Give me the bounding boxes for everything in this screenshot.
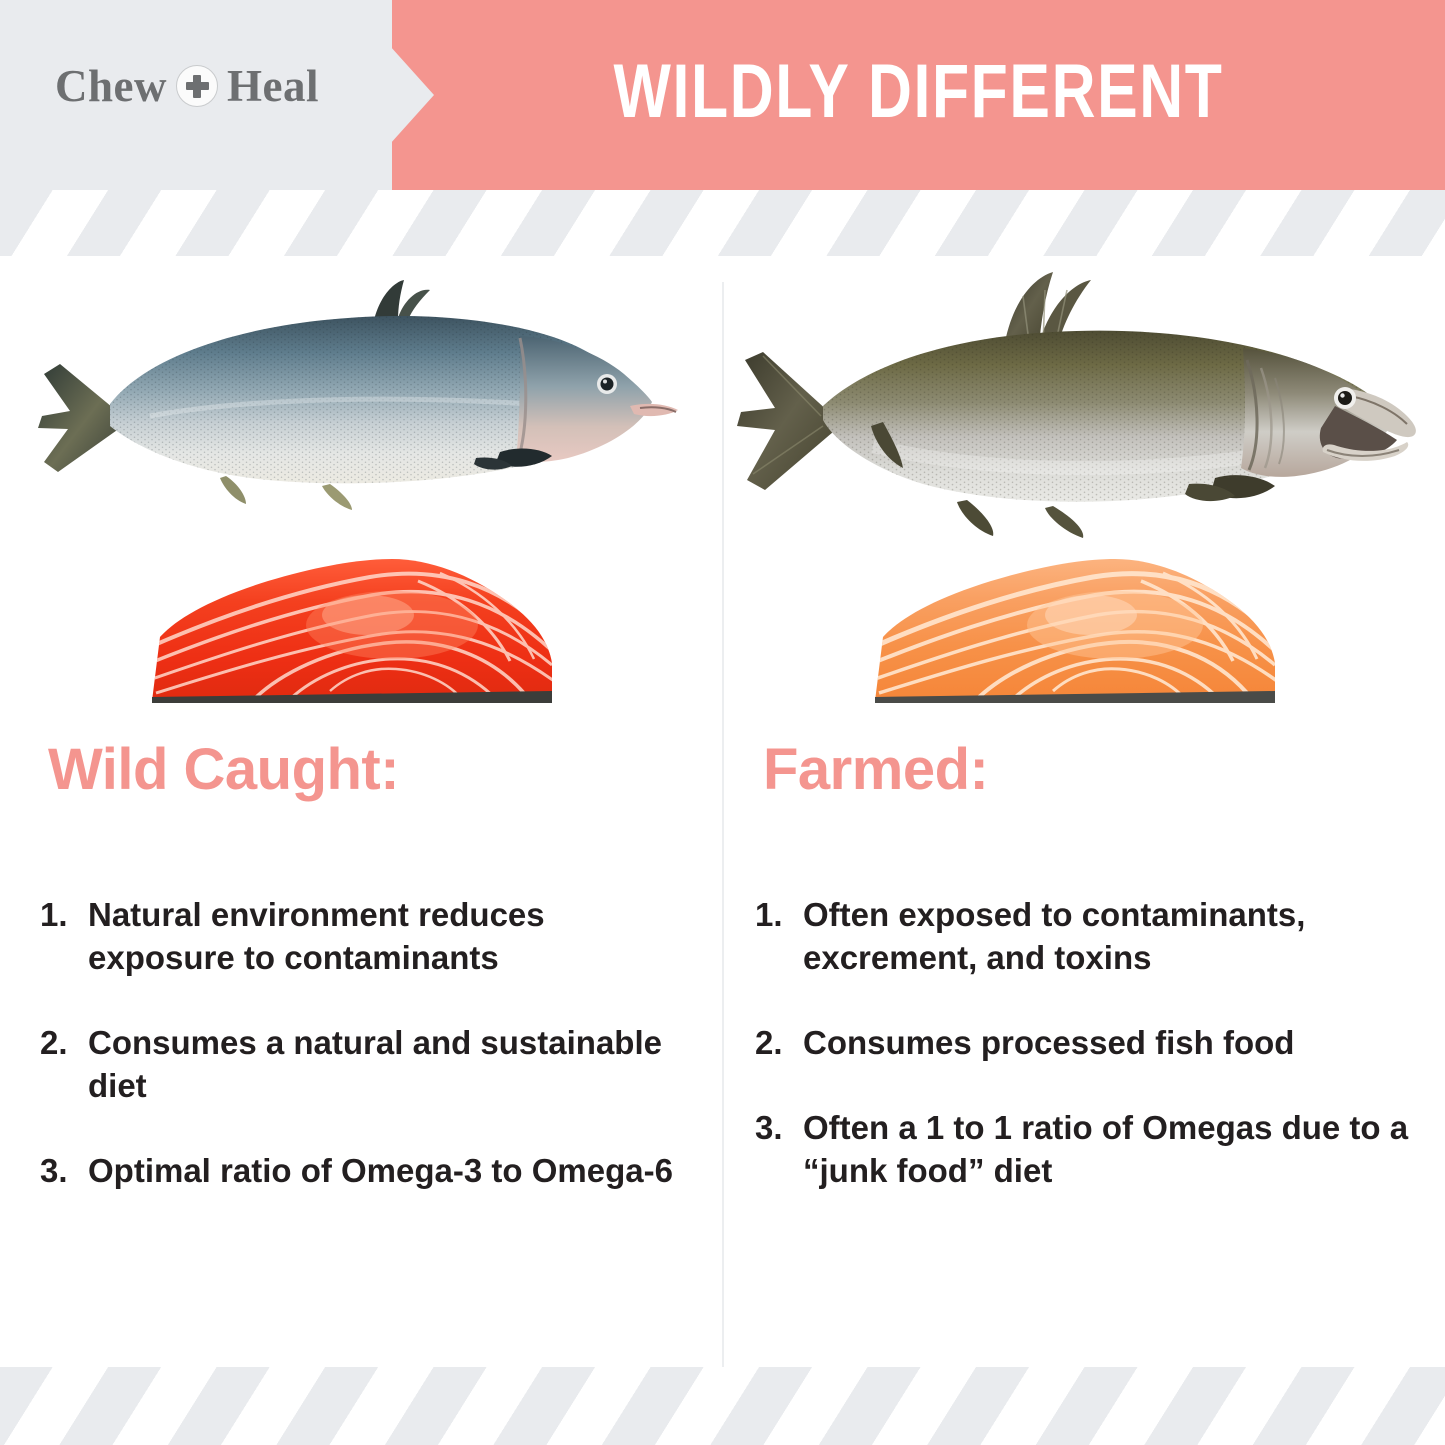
list-item-text: Consumes processed fish food: [803, 1022, 1435, 1065]
farmed-salmon-fillet-photo: [723, 541, 1445, 731]
list-item-text: Often a 1 to 1 ratio of Omegas due to a …: [803, 1107, 1435, 1193]
list-item-number: 3.: [755, 1107, 803, 1193]
brand-word-heal: Heal: [227, 60, 319, 112]
list-item-text: Natural environment reduces exposure to …: [88, 894, 700, 980]
wild-salmon-fillet-photo: [0, 541, 722, 731]
page-header: WILDLY DIFFERENT Chew Heal: [0, 0, 1445, 190]
brand-word-chew: Chew: [55, 60, 167, 112]
list-item: 2. Consumes processed fish food: [755, 1022, 1435, 1065]
list-item-number: 1.: [40, 894, 88, 980]
list-item: 1. Often exposed to contaminants, excrem…: [755, 894, 1435, 980]
list-item-text: Optimal ratio of Omega-3 to Omega-6: [88, 1150, 700, 1193]
column-heading-farmed: Farmed:: [763, 736, 988, 803]
brand-logo: Chew Heal: [55, 60, 319, 112]
column-heading-wild-caught: Wild Caught:: [48, 736, 399, 803]
decorative-stripes-top: [0, 190, 1445, 256]
chevron-right-icon: [390, 46, 434, 144]
column-wild-caught: Wild Caught: 1. Natural environment redu…: [0, 256, 722, 1366]
column-farmed: Farmed: 1. Often exposed to contaminants…: [723, 256, 1445, 1366]
list-item-text: Often exposed to contaminants, excrement…: [803, 894, 1435, 980]
benefit-list-wild-caught: 1. Natural environment reduces exposure …: [40, 894, 700, 1234]
wild-salmon-photo: [0, 256, 722, 546]
list-item: 1. Natural environment reduces exposure …: [40, 894, 700, 980]
decorative-stripes-bottom: [0, 1367, 1445, 1445]
list-item: 3. Optimal ratio of Omega-3 to Omega-6: [40, 1150, 700, 1193]
plus-in-circle-icon: [176, 65, 218, 107]
list-item-text: Consumes a natural and sustainable diet: [88, 1022, 700, 1108]
list-item-number: 2.: [755, 1022, 803, 1065]
comparison-content: Wild Caught: 1. Natural environment redu…: [0, 256, 1445, 1366]
list-item: 3. Often a 1 to 1 ratio of Omegas due to…: [755, 1107, 1435, 1193]
list-item-number: 3.: [40, 1150, 88, 1193]
benefit-list-farmed: 1. Often exposed to contaminants, excrem…: [755, 894, 1435, 1234]
list-item-number: 2.: [40, 1022, 88, 1108]
list-item: 2. Consumes a natural and sustainable di…: [40, 1022, 700, 1108]
page-title: WILDLY DIFFERENT: [497, 0, 1339, 190]
banner-panel: WILDLY DIFFERENT: [392, 0, 1445, 190]
farmed-salmon-photo: [723, 256, 1445, 546]
list-item-number: 1.: [755, 894, 803, 980]
